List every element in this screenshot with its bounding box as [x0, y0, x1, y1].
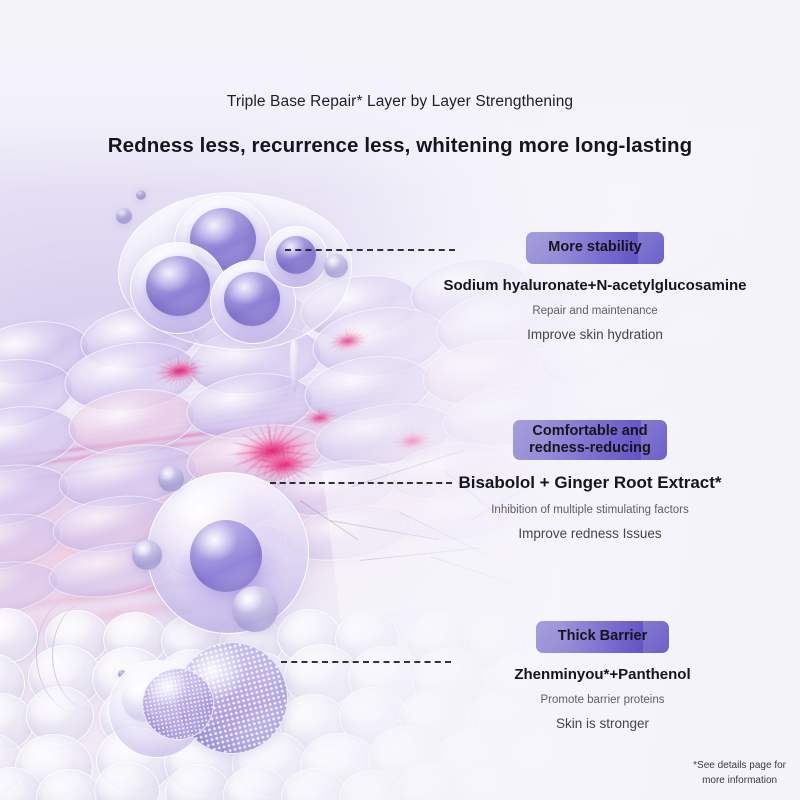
kicker-text: Triple Base Repair* Layer by Layer Stren… — [0, 93, 800, 111]
ingredient-name-1: Sodium hyaluronate+N-acetylglucosamine — [410, 277, 780, 294]
ingredient-name-2: Bisabolol + Ginger Root Extract* — [380, 473, 800, 493]
benefit-badge-3[interactable]: Thick Barrier — [536, 621, 669, 653]
benefit-outcome-2: Improve redness Issues — [380, 526, 800, 541]
benefit-detail-3: Promote barrier proteins — [415, 694, 790, 706]
footnote: *See details page for more information — [693, 759, 786, 788]
badge-label: Thick Barrier — [558, 629, 647, 644]
badge-label-line2: redness-reducing — [529, 441, 651, 456]
benefit-outcome-1: Improve skin hydration — [410, 327, 780, 342]
benefit-outcome-3: Skin is stronger — [415, 716, 790, 731]
badge-label: Comfortable and — [532, 424, 647, 439]
badge-label: More stability — [548, 240, 641, 255]
benefit-block-1: More stability Sodium hyaluronate+N-acet… — [410, 232, 780, 342]
footnote-line-2: more information — [693, 774, 786, 789]
benefit-detail-2: Inhibition of multiple stimulating facto… — [380, 504, 800, 516]
benefit-badge-2[interactable]: Comfortable and redness-reducing — [513, 420, 667, 460]
footnote-line-1: *See details page for — [693, 759, 786, 774]
ingredient-name-3: Zhenminyou*+Panthenol — [415, 666, 790, 683]
benefit-detail-1: Repair and maintenance — [410, 305, 780, 317]
page-title: Redness less, recurrence less, whitening… — [0, 134, 800, 158]
benefit-block-3: Thick Barrier Zhenminyou*+Panthenol Prom… — [415, 621, 790, 731]
infographic-canvas: Triple Base Repair* Layer by Layer Stren… — [0, 0, 800, 800]
benefit-badge-1[interactable]: More stability — [526, 232, 663, 264]
benefit-block-2: Comfortable and redness-reducing Bisabol… — [380, 420, 800, 541]
header-group: Triple Base Repair* Layer by Layer Stren… — [0, 0, 800, 158]
